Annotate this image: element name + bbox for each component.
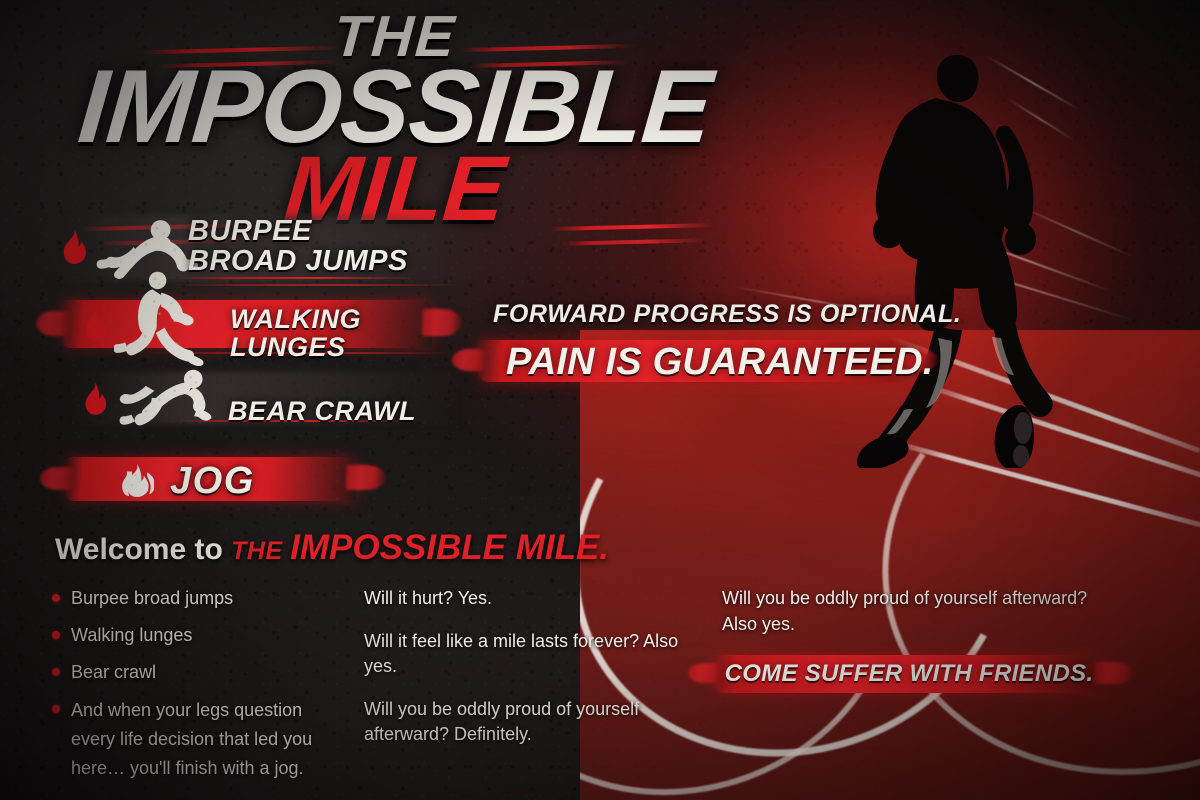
- flame-icon: [120, 463, 154, 497]
- tagline-top: FORWARD PROGRESS IS OPTIONAL.: [493, 300, 961, 329]
- exercise-label: JOG: [170, 462, 255, 501]
- welcome-brand: IMPOSSIBLE MILE.: [290, 528, 609, 567]
- bullet-dot-icon: [52, 594, 60, 602]
- cta-banner[interactable]: COME SUFFER WITH FRIENDS.: [714, 655, 1104, 693]
- list-item: Bear crawl: [52, 659, 352, 685]
- runner-silhouette-icon: [818, 38, 1108, 468]
- poster-title: THE IMPOSSIBLE MILE: [0, 8, 790, 233]
- flame-icon: [82, 382, 108, 415]
- welcome-prefix: Welcome to: [55, 533, 231, 566]
- bullet-text: Walking lunges: [71, 622, 333, 648]
- faq-paragraph: Will you be oddly proud of yourself afte…: [722, 586, 1112, 637]
- exercise-row-jog[interactable]: JOG: [66, 455, 366, 505]
- welcome-heading: Welcome to THE IMPOSSIBLE MILE.: [55, 528, 609, 568]
- bullet-dot-icon: [52, 631, 60, 639]
- faq-paragraph: Will you be oddly proud of yourself afte…: [364, 697, 684, 748]
- exercise-label: BEAR CRAWL: [228, 398, 416, 426]
- list-item: Burpee broad jumps: [52, 585, 352, 611]
- faq-middle-column: Will it hurt? Yes. Will it feel like a m…: [364, 586, 684, 765]
- list-item: Walking lunges: [52, 622, 352, 648]
- cta-label: COME SUFFER WITH FRIENDS.: [714, 655, 1104, 693]
- faq-paragraph: Will it feel like a mile lasts forever? …: [364, 629, 684, 680]
- exercise-label: BURPEE BROAD JUMPS: [188, 217, 408, 276]
- faq-paragraph: Will it hurt? Yes.: [364, 586, 684, 612]
- welcome-the: THE: [231, 537, 290, 565]
- bullet-dot-icon: [52, 705, 60, 713]
- exercise-label: WALKING LUNGES: [230, 306, 462, 361]
- list-item: And when your legs question every life d…: [52, 696, 352, 782]
- bullet-text: Bear crawl: [71, 659, 333, 685]
- flame-icon: [82, 308, 108, 341]
- lunge-figure-icon: [114, 270, 210, 366]
- faq-right-column: Will you be oddly proud of yourself afte…: [722, 586, 1112, 654]
- tagline-main: PAIN IS GUARANTEED.: [506, 341, 933, 384]
- exercise-row-bear-crawl[interactable]: BEAR CRAWL: [62, 368, 462, 448]
- bear-crawl-figure-icon: [112, 362, 222, 430]
- bullet-text: Burpee broad jumps: [71, 585, 333, 611]
- bullet-text: And when your legs question every life d…: [71, 696, 333, 782]
- exercise-row-walking-lunges[interactable]: WALKING LUNGES: [62, 285, 462, 365]
- flame-icon: [60, 229, 88, 264]
- bullet-dot-icon: [52, 668, 60, 676]
- poster-canvas: THE IMPOSSIBLE MILE: [0, 0, 1200, 800]
- bullet-list: Burpee broad jumps Walking lunges Bear c…: [52, 585, 352, 794]
